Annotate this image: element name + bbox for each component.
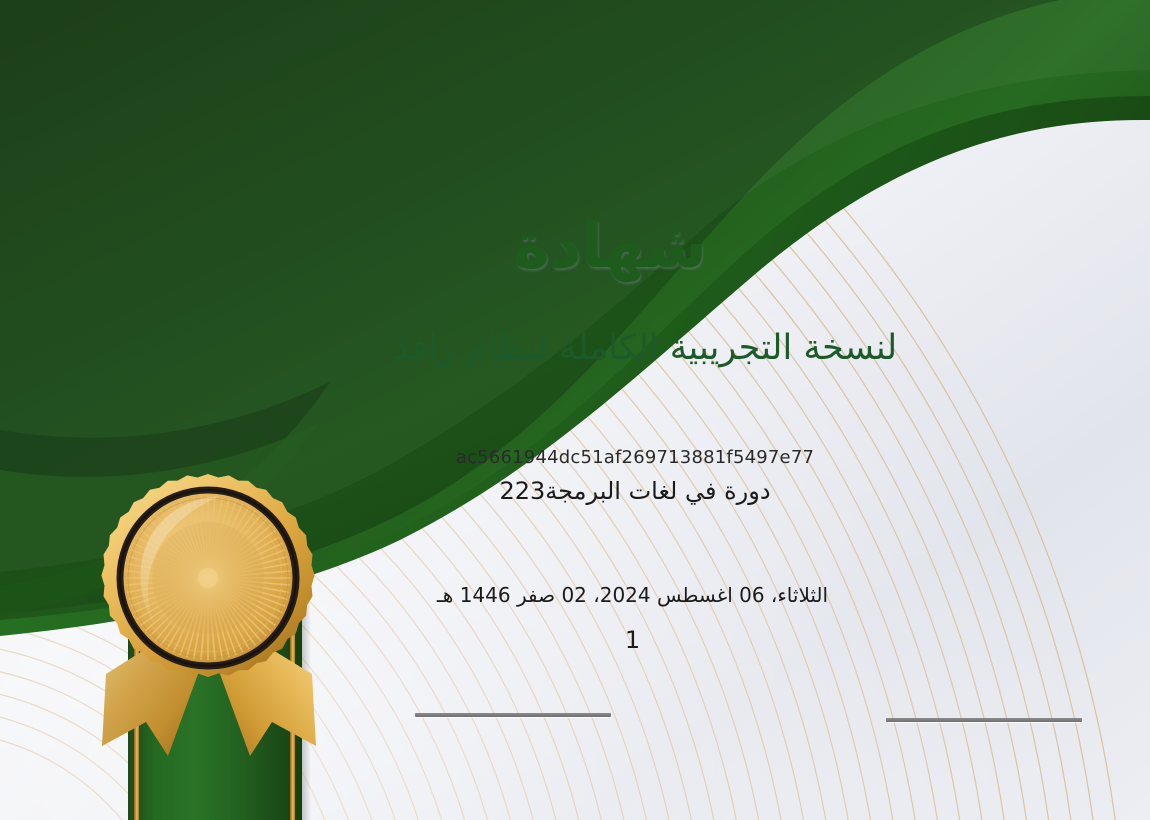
signature-line-left [415,713,611,717]
verification-hash: ac5661944dc51af269713881f5497e77 [120,447,1150,468]
certificate-page: شهادة لنسخة التجريبية الكاملة لنظام رافد… [0,0,1150,820]
certificate-content: شهادة لنسخة التجريبية الكاملة لنظام رافد… [0,0,1150,820]
certificate-subtitle: لنسخة التجريبية الكاملة لنظام رافد [140,327,1150,371]
signature-line-right [886,718,1082,722]
issue-date: الثلاثاء، 06 اغسطس 2024، 02 صفر 1446 هـ [115,583,1150,607]
course-name: دورة في لغات البرمجة223 [120,477,1150,505]
page-title: شهادة [70,212,1150,280]
sequence-number: 1 [115,626,1150,654]
